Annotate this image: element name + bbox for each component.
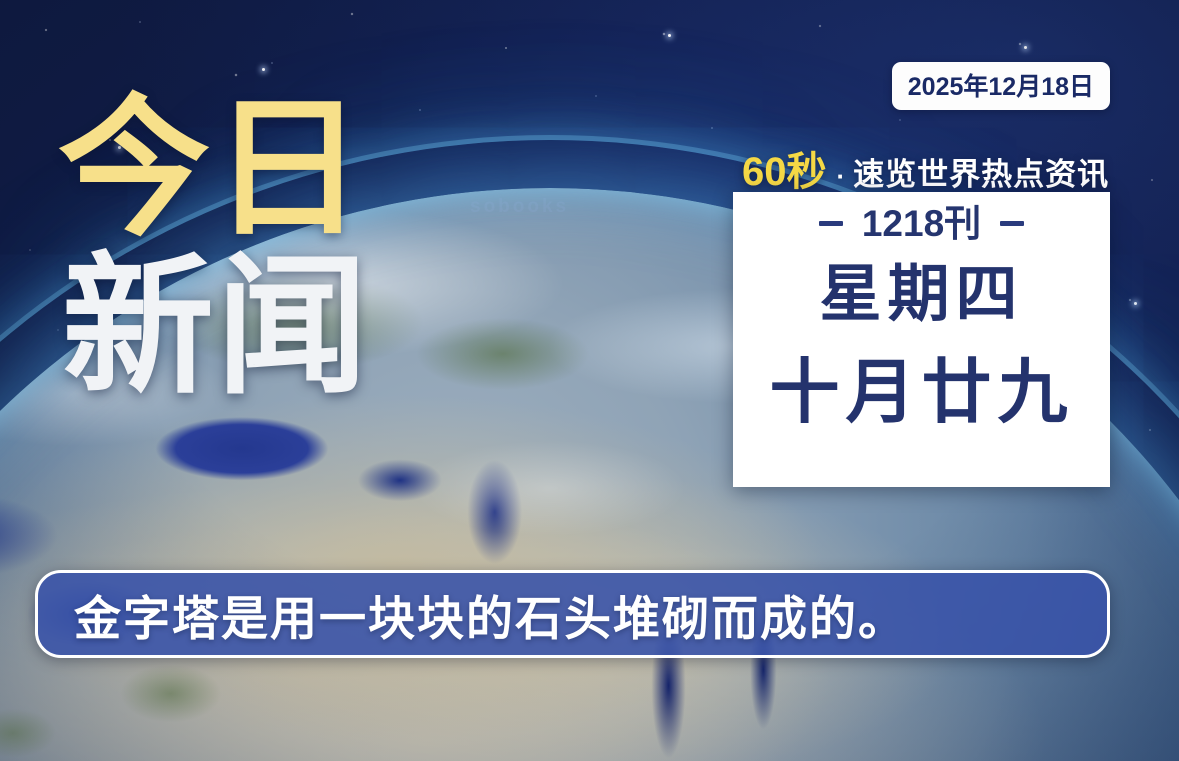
- title-line-today: 今日: [58, 96, 370, 242]
- tagline: 60秒 · 速览世界热点资讯: [742, 139, 1109, 197]
- quote-bar: 金字塔是用一块块的石头堆砌而成的。: [35, 570, 1110, 658]
- lunar-date-label: 十月廿九: [770, 357, 1074, 427]
- quote-text: 金字塔是用一块块的石头堆砌而成的。: [74, 580, 907, 649]
- dash-right-icon: [1000, 221, 1024, 226]
- issue-number: 1218刊: [862, 205, 981, 242]
- tagline-highlight: 60秒: [742, 139, 827, 197]
- page-title: 今日 新闻: [58, 96, 370, 400]
- tagline-text: 速览世界热点资讯: [853, 149, 1109, 194]
- weekday-label: 星期四: [819, 264, 1023, 326]
- tagline-separator: ·: [837, 161, 846, 192]
- date-badge: 2025年12月18日: [892, 62, 1110, 110]
- news-poster: 今日 新闻 sobooks 2025年12月18日 60秒 · 速览世界热点资讯…: [0, 0, 1179, 761]
- watermark-text: sobooks: [470, 196, 569, 218]
- info-card: 1218刊 星期四 十月廿九: [733, 192, 1110, 487]
- issue-row: 1218刊: [819, 205, 1024, 242]
- dash-left-icon: [819, 221, 843, 226]
- title-line-news: 新闻: [62, 254, 370, 400]
